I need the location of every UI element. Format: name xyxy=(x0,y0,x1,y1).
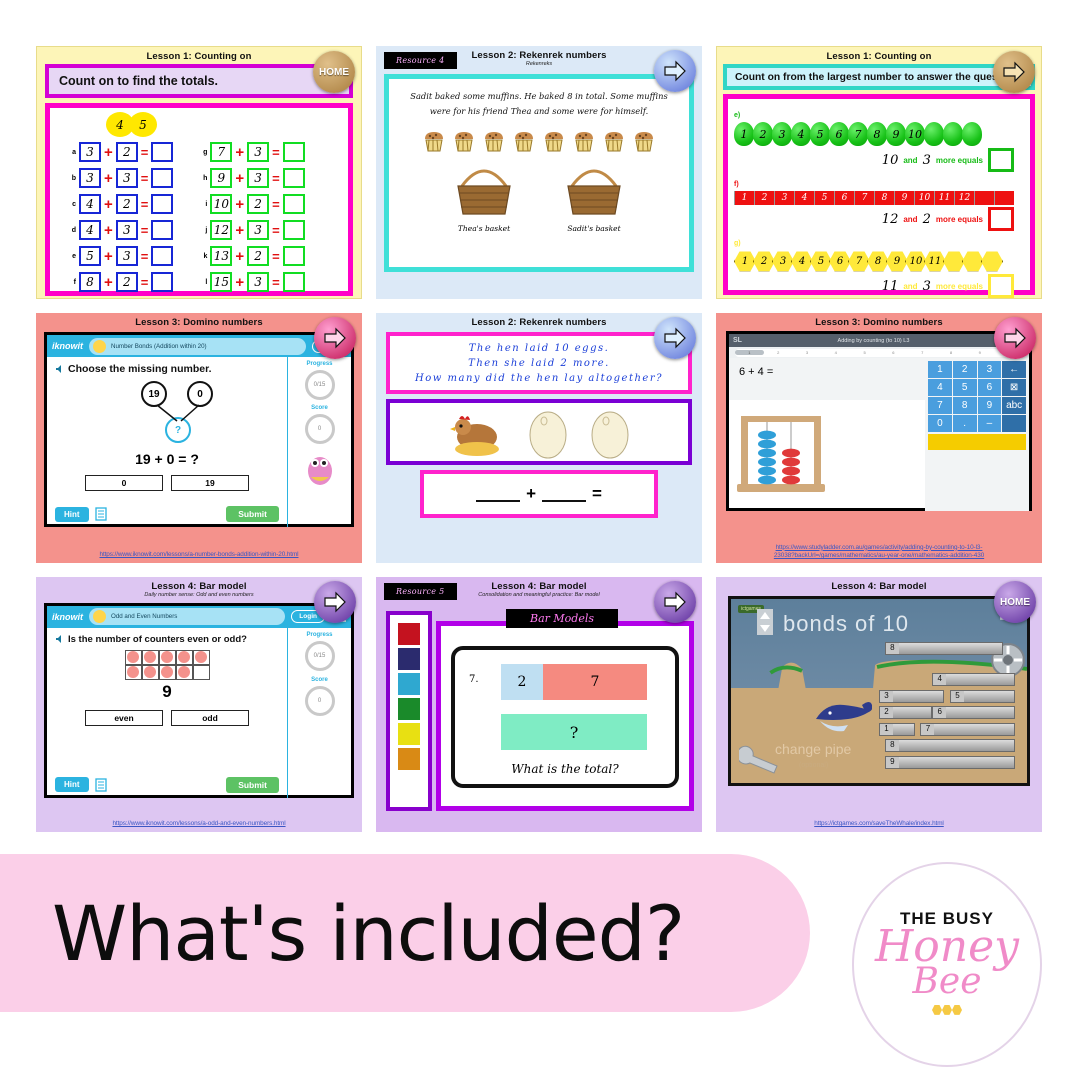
and-label: and xyxy=(903,215,917,224)
card-title: Lesson 4: Bar model xyxy=(716,577,1042,592)
iknowit-app-frame: iknowit Odd and Even Numbers Login Is th… xyxy=(44,603,354,798)
row-label: f xyxy=(68,279,76,286)
answer-box[interactable] xyxy=(283,246,305,266)
keypad-key[interactable]: 5 xyxy=(953,379,977,396)
pipe-number: 8 xyxy=(886,740,899,751)
topic-label: Odd and Even Numbers xyxy=(111,613,177,620)
bar-model-card: 7. 2 7 ? What is the total? xyxy=(451,646,679,788)
frame-cell xyxy=(159,650,176,665)
plus-sign: + xyxy=(104,275,113,290)
honeycomb-icon xyxy=(932,1002,962,1020)
hexagon-shape: 9 xyxy=(886,250,908,272)
score-ring: 0 xyxy=(305,686,335,716)
addend-box[interactable]: 5 xyxy=(79,246,101,266)
row-label: g xyxy=(199,149,207,156)
question-area: Is the number of counters even or odd? 9… xyxy=(47,628,287,798)
plus-sign: + xyxy=(104,197,113,212)
answer-box[interactable] xyxy=(151,220,173,240)
frame-cell xyxy=(142,665,159,680)
equals-sign: = xyxy=(272,145,280,160)
step-indicator[interactable]: 3 xyxy=(793,350,822,355)
flag-shape: 11 xyxy=(934,191,954,205)
answer-box[interactable] xyxy=(151,272,173,292)
resource-card-hen-eggs: Lesson 2: Rekenrek numbers The hen laid … xyxy=(376,313,702,563)
muffin-icon xyxy=(481,128,507,154)
hexagon-shape: 6 xyxy=(829,250,851,272)
studyladder-logo: SL xyxy=(733,337,742,344)
color-swatch[interactable] xyxy=(398,623,420,645)
whale-icon xyxy=(814,699,872,733)
home-button[interactable]: HOME xyxy=(313,51,355,93)
progress-label: Progress xyxy=(288,632,351,638)
worksheet-area: 4 5 a3+2=b3+3=c4+2=d4+3=e5+3=f8+2= g7+3=… xyxy=(45,103,353,296)
answer-box[interactable] xyxy=(151,142,173,162)
step-indicator[interactable]: 9 xyxy=(965,350,994,355)
number-bond-diagram: 19 0 ? xyxy=(55,377,279,449)
sun-icon xyxy=(93,340,106,353)
source-url-line-2: 23038?backUrl=/games/mathematics/au-year… xyxy=(722,552,1036,561)
score-panel: Progress 0/15 Score 0 xyxy=(287,628,351,798)
counter-dot xyxy=(144,651,156,663)
resource-card-bar-models: Resource 5 Lesson 4: Bar model Consolida… xyxy=(376,577,702,832)
submit-button[interactable]: Submit xyxy=(226,506,279,522)
and-label: and xyxy=(903,156,917,165)
hexagon-shape: 11 xyxy=(924,250,946,272)
balloon-shape: 2 xyxy=(753,122,773,146)
row-label: k xyxy=(199,253,207,260)
chevron-down-icon[interactable] xyxy=(760,625,770,632)
whats-included-banner: What's included? xyxy=(0,854,810,1012)
counter-dot xyxy=(127,651,139,663)
hexagon-shape: 7 xyxy=(848,250,870,272)
addend-box[interactable]: 15 xyxy=(210,272,232,292)
progress-ring: 0/15 xyxy=(305,641,335,671)
pipe-piece[interactable]: 4 xyxy=(932,673,1015,686)
question-row: g)123456789101111and3more equals xyxy=(734,232,1024,298)
game-title: bonds of 10 xyxy=(783,611,909,637)
number-bond-pair: 4 5 xyxy=(106,112,152,137)
source-url[interactable]: https://www.iknowit.com/lessons/a-odd-an… xyxy=(36,820,362,829)
pipe-piece[interactable]: 8 xyxy=(885,739,1015,752)
balloon-shape xyxy=(943,122,963,146)
problem-line-2: Then she laid 2 more. xyxy=(415,356,663,371)
keypad-key[interactable]: 0 xyxy=(928,415,952,432)
start-number: 12 xyxy=(882,212,899,227)
addend-box[interactable]: 3 xyxy=(116,246,138,266)
addend-box[interactable]: 2 xyxy=(247,194,269,214)
step-indicator[interactable]: 1 xyxy=(735,350,764,355)
arrow-right-icon xyxy=(663,327,687,349)
equation-row: k13+2= xyxy=(199,246,304,266)
addend-box[interactable]: 3 xyxy=(247,142,269,162)
answer-sentence: 10and3more equals xyxy=(734,148,1024,172)
plus-sign: + xyxy=(104,249,113,264)
plus-sign: + xyxy=(104,145,113,160)
color-swatch-palette[interactable] xyxy=(386,611,432,811)
progress-label: Progress xyxy=(288,361,351,367)
keypad-key[interactable]: 6 xyxy=(978,379,1002,396)
frame-cell xyxy=(142,650,159,665)
row-label: a xyxy=(68,149,76,156)
next-arrow-button[interactable] xyxy=(654,581,696,623)
step-indicator[interactable]: 2 xyxy=(764,350,793,355)
logo-line-3: Bee xyxy=(912,966,981,998)
balloon-shape: 1 xyxy=(734,122,754,146)
equals-sign: = xyxy=(272,197,280,212)
answer-blank-2[interactable] xyxy=(542,487,586,502)
brand-logo: THE BUSY Honey Bee xyxy=(852,862,1042,1067)
bar-model-panel: 7. 2 7 ? What is the total? xyxy=(436,621,694,811)
equals-sign: = xyxy=(272,249,280,264)
keypad-key[interactable]: 1 xyxy=(928,361,952,378)
flag-shape: 8 xyxy=(874,191,894,205)
addend-box[interactable]: 4 xyxy=(79,194,101,214)
source-url[interactable]: https://ictgames.com/saveTheWhale/index.… xyxy=(716,820,1042,829)
answer-box[interactable] xyxy=(988,274,1014,298)
balloon-shape: 4 xyxy=(791,122,811,146)
addend-box[interactable]: 13 xyxy=(210,246,232,266)
keypad-key[interactable]: 9 xyxy=(978,397,1002,414)
arrow-right-icon xyxy=(323,327,347,349)
equation-row: f8+2= xyxy=(68,272,173,292)
equation-row: i10+2= xyxy=(199,194,304,214)
step-indicator[interactable]: 6 xyxy=(879,350,908,355)
more-number: 2 xyxy=(923,212,931,227)
app-toolbar: iknowit Odd and Even Numbers Login xyxy=(47,606,351,628)
question-area: Choose the missing number. 19 0 ? 19 + 0… xyxy=(47,357,287,527)
keypad-key[interactable]: 7 xyxy=(928,397,952,414)
counter-dot xyxy=(161,666,173,678)
pipe-piece[interactable]: 2 xyxy=(879,706,932,719)
equation-row: e5+3= xyxy=(68,246,173,266)
flag-shape xyxy=(974,191,994,205)
frame-cell xyxy=(125,650,142,665)
addend-box[interactable]: 4 xyxy=(79,220,101,240)
source-url[interactable]: https://www.studyladder.com.au/games/act… xyxy=(716,544,1042,561)
flag-shape: 12 xyxy=(954,191,974,205)
addend-box[interactable]: 2 xyxy=(247,246,269,266)
source-url-line-1: https://www.studyladder.com.au/games/act… xyxy=(722,544,1036,553)
submit-button[interactable]: Submit xyxy=(226,777,279,793)
start-number: 11 xyxy=(882,279,899,294)
keypad-key[interactable] xyxy=(1002,415,1026,432)
topic-pill: Odd and Even Numbers xyxy=(89,608,285,625)
hexagon-shape: 8 xyxy=(867,250,889,272)
row-label: i xyxy=(199,201,207,208)
flag-shape: 5 xyxy=(814,191,834,205)
problem-line-3: How many did the hen lay altogether? xyxy=(415,371,663,386)
equation-row: l15+3= xyxy=(199,272,304,292)
card-title: Lesson 3: Domino numbers xyxy=(36,313,362,328)
row-label: h xyxy=(199,175,207,182)
addend-box[interactable]: 3 xyxy=(247,168,269,188)
question-label: g) xyxy=(734,240,741,247)
pipe-piece[interactable]: 9 xyxy=(885,756,1015,769)
step-indicator[interactable]: 5 xyxy=(850,350,879,355)
next-arrow-button[interactable] xyxy=(994,317,1036,359)
keypad-key[interactable]: – xyxy=(978,415,1002,432)
pipe-piece[interactable]: 5 xyxy=(950,690,1015,703)
bond-connector-lines xyxy=(141,381,231,441)
score-label: Score xyxy=(288,405,351,411)
home-label: HOME xyxy=(1000,597,1030,608)
more-equals-label: more equals xyxy=(936,156,983,165)
addend-box[interactable]: 7 xyxy=(210,142,232,162)
question-row: Is the number of counters even or odd? xyxy=(55,634,279,645)
equals-sign: = xyxy=(141,223,149,238)
answer-choices: even odd xyxy=(55,710,279,726)
basket-row: Thea's basket Sadit's basket xyxy=(403,160,675,233)
equation-prompt: 6 + 4 = xyxy=(729,358,925,400)
hint-button[interactable]: Hint xyxy=(55,507,89,522)
studyladder-app-frame: SL Adding by counting (to 10) L3 1234567… xyxy=(726,331,1032,511)
answer-box[interactable] xyxy=(151,194,173,214)
question-label: f) xyxy=(734,181,739,188)
iknowit-app-frame: iknowit Number Bonds (Addition within 20… xyxy=(44,332,354,527)
row-label: e xyxy=(68,253,76,260)
shape-track: 1234567891011 xyxy=(734,250,1024,272)
basket-icon xyxy=(452,160,516,218)
step-indicator[interactable]: 7 xyxy=(908,350,937,355)
equals-sign: = xyxy=(141,171,149,186)
change-pipe-label[interactable]: change pipe xyxy=(775,741,851,757)
bar-part-right: 7 xyxy=(543,664,647,700)
counter-dot xyxy=(127,666,139,678)
next-arrow-button[interactable] xyxy=(993,51,1035,93)
illustration-box xyxy=(386,399,692,465)
equals-sign: = xyxy=(272,171,280,186)
answer-sentence: 11and3more equals xyxy=(734,274,1024,298)
next-arrow-button[interactable] xyxy=(314,317,356,359)
plus-sign: + xyxy=(235,249,244,264)
addend-box[interactable]: 3 xyxy=(247,220,269,240)
hexagon-shape xyxy=(962,250,984,272)
flag-shape: 7 xyxy=(854,191,874,205)
flag-shape: 10 xyxy=(914,191,934,205)
answer-box[interactable] xyxy=(283,168,305,188)
addend-box[interactable]: 2 xyxy=(116,194,138,214)
keypad-key[interactable]: 3 xyxy=(978,361,1002,378)
arrow-right-icon xyxy=(663,60,687,82)
hint-button[interactable]: Hint xyxy=(55,777,89,792)
app-toolbar: iknowit Number Bonds (Addition within 20… xyxy=(47,335,351,357)
instruction-band: Count on to find the totals. xyxy=(45,64,353,98)
pipe-piece[interactable]: 1 xyxy=(879,723,915,736)
basket-label-left: Thea's basket xyxy=(452,224,516,233)
topic-label: Number Bonds (Addition within 20) xyxy=(111,343,207,350)
bar-top-row: 2 7 xyxy=(501,664,647,700)
basket-label-right: Sadit's basket xyxy=(562,224,626,233)
addend-box[interactable]: 2 xyxy=(116,272,138,292)
answer-box[interactable] xyxy=(988,207,1014,231)
card-title: Lesson 1: Counting on xyxy=(37,47,361,62)
answer-box[interactable] xyxy=(151,246,173,266)
level-stepper[interactable] xyxy=(757,609,773,635)
equation-row: c4+2= xyxy=(68,194,173,214)
question-row: Choose the missing number. xyxy=(55,363,279,375)
iknowit-logo: iknowit xyxy=(52,612,83,622)
egg-icon xyxy=(589,405,631,459)
counter-total: 9 xyxy=(55,682,279,702)
keypad-key[interactable]: ⊠ xyxy=(1002,379,1026,396)
keypad-key[interactable]: 2 xyxy=(953,361,977,378)
addend-box[interactable]: 9 xyxy=(210,168,232,188)
muffin-row xyxy=(403,128,675,154)
equation-column-right: g7+3=h9+3=i10+2=j12+3=k13+2=l15+3= xyxy=(199,142,304,292)
score-panel: Progress 0/15 Score 0 xyxy=(287,357,351,527)
answer-input[interactable] xyxy=(928,434,1026,450)
card-title: Lesson 1: Counting on xyxy=(717,47,1041,62)
pipe-piece[interactable]: 3 xyxy=(879,690,944,703)
equation-row: a3+2= xyxy=(68,142,173,162)
color-swatch[interactable] xyxy=(398,748,420,770)
step-indicator[interactable]: 4 xyxy=(821,350,850,355)
resource-tag: Resource 5 xyxy=(384,583,457,600)
answer-box[interactable] xyxy=(151,168,173,188)
counter-dot xyxy=(195,651,207,663)
home-button[interactable]: HOME xyxy=(994,581,1036,623)
arrow-right-icon xyxy=(1002,61,1026,83)
story-line-2: were for his friend Thea and some were f… xyxy=(403,104,675,119)
word-problem-box: The hen laid 10 eggs. Then she laid 2 mo… xyxy=(386,332,692,394)
answer-box[interactable] xyxy=(283,272,305,292)
chevron-up-icon[interactable] xyxy=(760,612,770,619)
choice-option[interactable]: even xyxy=(85,710,163,726)
question-text: Choose the missing number. xyxy=(68,363,212,375)
calculator-icon[interactable] xyxy=(95,778,107,792)
balloon-shape: 6 xyxy=(829,122,849,146)
keypad-key[interactable]: 8 xyxy=(953,397,977,414)
question-number: 7. xyxy=(469,674,479,685)
addend-box[interactable]: 3 xyxy=(116,220,138,240)
color-swatch[interactable] xyxy=(398,723,420,745)
equals-sign: = xyxy=(272,223,280,238)
color-swatch[interactable] xyxy=(398,673,420,695)
resource-card-save-the-whale: Lesson 4: Bar model HOME ictgames bonds … xyxy=(716,577,1042,832)
home-label: HOME xyxy=(319,67,349,78)
next-arrow-button[interactable] xyxy=(654,317,696,359)
slide-title-tag: Bar Models xyxy=(506,609,618,628)
window-title: Adding by counting (to 10) L3 xyxy=(742,338,1005,344)
card-title: Lesson 2: Rekenrek numbers xyxy=(376,313,702,328)
addend-box[interactable]: 3 xyxy=(116,168,138,188)
plus-sign: + xyxy=(235,223,244,238)
hen-icon xyxy=(447,407,507,457)
muffin-icon xyxy=(451,128,477,154)
equation-row: d4+3= xyxy=(68,220,173,240)
flag-shape: 1 xyxy=(734,191,754,205)
muffin-icon xyxy=(511,128,537,154)
color-swatch[interactable] xyxy=(398,648,420,670)
row-label: l xyxy=(199,279,207,286)
resource-card-iknowit-odd-even: Lesson 4: Bar model Daily number sense: … xyxy=(36,577,362,832)
plus-sign: + xyxy=(235,197,244,212)
addend-box[interactable]: 3 xyxy=(79,168,101,188)
pipe-piece[interactable]: 7 xyxy=(920,723,1015,736)
flag-shape: 4 xyxy=(794,191,814,205)
answer-box[interactable] xyxy=(283,142,305,162)
problem-line-1: The hen laid 10 eggs. xyxy=(415,341,663,356)
addend-box[interactable]: 3 xyxy=(79,142,101,162)
equation-row: b3+3= xyxy=(68,168,173,188)
pipe-piece[interactable]: 8 xyxy=(885,642,1003,655)
counter-dot xyxy=(144,666,156,678)
addend-box[interactable]: 2 xyxy=(116,142,138,162)
pipe-piece[interactable]: 6 xyxy=(932,706,1015,719)
speaker-icon[interactable] xyxy=(55,634,65,644)
sun-icon xyxy=(93,610,106,623)
frame-cell xyxy=(193,650,210,665)
more-equals-label: more equals xyxy=(936,282,983,291)
choice-option[interactable]: odd xyxy=(171,710,249,726)
pipe-number: 5 xyxy=(951,691,964,702)
source-url[interactable]: https://www.iknowit.com/lessons/a-number… xyxy=(36,551,362,560)
plus-sign: + xyxy=(104,171,113,186)
answer-blank-1[interactable] xyxy=(476,487,520,502)
choice-option[interactable]: 19 xyxy=(171,475,249,491)
card-title: Lesson 3: Domino numbers xyxy=(716,313,1042,328)
flag-shape: 9 xyxy=(894,191,914,205)
question-text: Is the number of counters even or odd? xyxy=(68,634,247,645)
story-line-1: Sadit baked some muffins. He baked 8 in … xyxy=(403,89,675,104)
card-subtitle: Daily number sense: Odd and even numbers xyxy=(36,592,362,599)
choice-option[interactable]: 0 xyxy=(85,475,163,491)
slide-body: Sadit baked some muffins. He baked 8 in … xyxy=(384,74,694,272)
answer-box[interactable] xyxy=(283,220,305,240)
step-indicator[interactable]: 8 xyxy=(937,350,966,355)
answer-box[interactable] xyxy=(283,194,305,214)
muffin-icon xyxy=(541,128,567,154)
addend-box[interactable]: 8 xyxy=(79,272,101,292)
hexagon-shape: 4 xyxy=(791,250,813,272)
question-label: e) xyxy=(734,112,740,119)
keypad-key[interactable]: 4 xyxy=(928,379,952,396)
equation-row: h9+3= xyxy=(199,168,304,188)
answer-sentence: 12and2more equals xyxy=(734,207,1024,231)
answer-box[interactable] xyxy=(988,148,1014,172)
pipe-number: 4 xyxy=(933,674,946,685)
counter-dot xyxy=(161,651,173,663)
resource-card-counting-on-largest: Lesson 1: Counting on Count on from the … xyxy=(716,46,1042,299)
arrow-right-icon xyxy=(1003,327,1027,349)
keypad-key[interactable]: abc xyxy=(1002,397,1026,414)
hexagon-shape: 5 xyxy=(810,250,832,272)
row-label: c xyxy=(68,201,76,208)
frame-cell xyxy=(125,665,142,680)
pipe-number: 2 xyxy=(880,707,893,718)
shape-track: 123456789101112 xyxy=(734,191,1024,205)
resource-card-rekenrek-muffins: Resource 4 Lesson 2: Rekenrek numbers Re… xyxy=(376,46,702,299)
calculator-icon[interactable] xyxy=(95,507,107,521)
row-label: d xyxy=(68,227,76,234)
next-arrow-button[interactable] xyxy=(654,50,696,92)
ictgames-app-frame: ictgames bonds of 10 change pipe (option xyxy=(728,596,1030,786)
activity-area: 6 + 4 = xyxy=(729,358,925,511)
speaker-icon[interactable] xyxy=(55,364,65,374)
frame-cell xyxy=(176,665,193,680)
keypad-key[interactable]: . xyxy=(953,415,977,432)
topic-pill: Number Bonds (Addition within 20) xyxy=(89,338,306,355)
equals-sign: = xyxy=(592,484,602,504)
color-swatch[interactable] xyxy=(398,698,420,720)
balloon-shape: 10 xyxy=(905,122,925,146)
addend-box[interactable]: 12 xyxy=(210,220,232,240)
next-arrow-button[interactable] xyxy=(314,581,356,623)
keypad-key[interactable]: ← xyxy=(1002,361,1026,378)
more-number: 3 xyxy=(923,279,931,294)
addend-box[interactable]: 10 xyxy=(210,194,232,214)
addend-box[interactable]: 3 xyxy=(247,272,269,292)
